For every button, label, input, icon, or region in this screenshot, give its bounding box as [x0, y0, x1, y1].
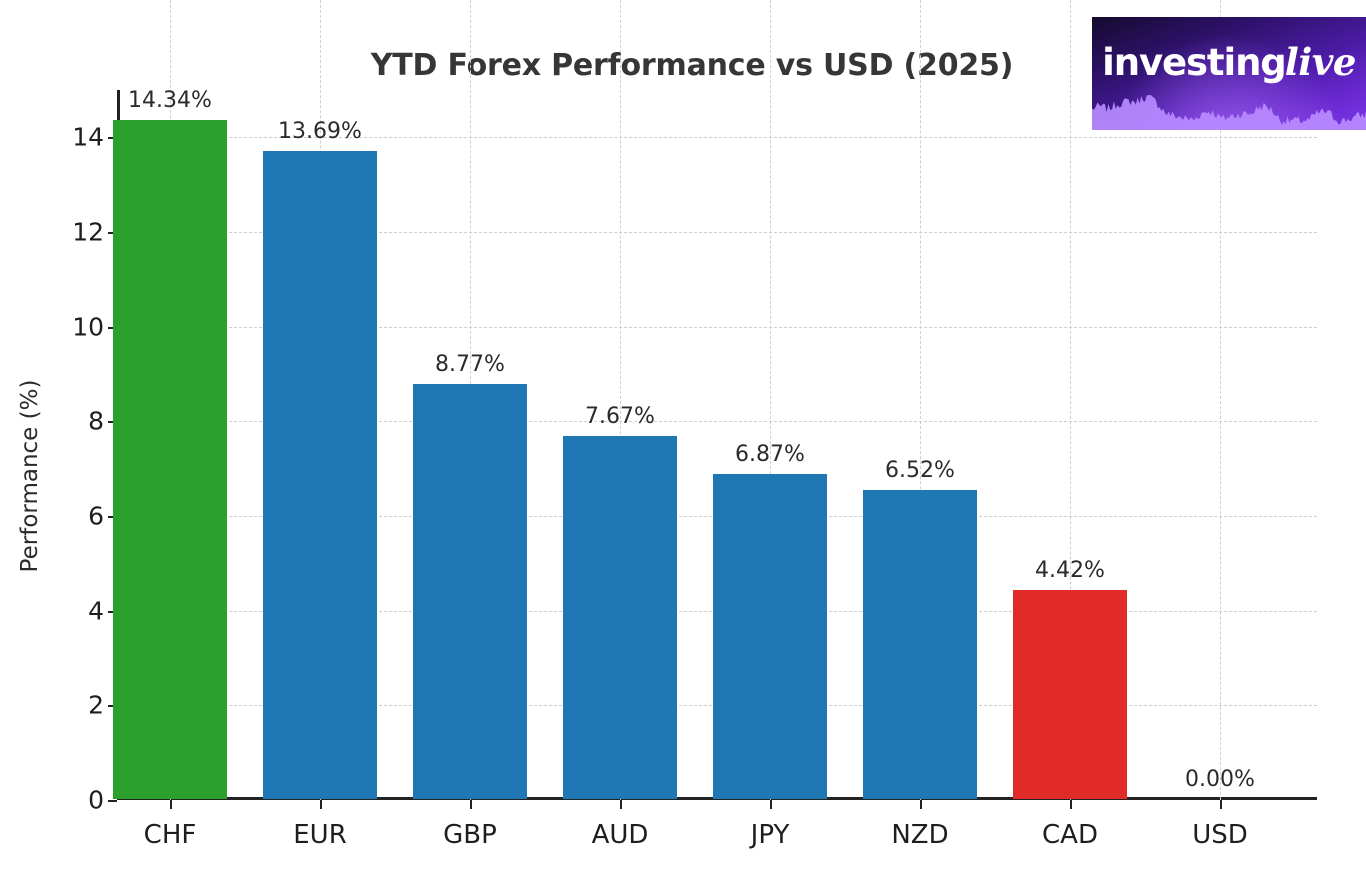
bar-eur[interactable] [263, 151, 376, 799]
bar-nzd[interactable] [863, 490, 976, 799]
x-tick-label-gbp: GBP [443, 820, 497, 850]
y-tick-label: 12 [72, 218, 104, 247]
y-tick-label: 8 [88, 407, 104, 436]
brand-logo-word-secondary: live [1285, 40, 1356, 84]
y-tick-label: 0 [88, 786, 104, 815]
bar-value-label-nzd: 6.52% [885, 458, 955, 483]
x-tick-label-nzd: NZD [891, 820, 948, 850]
bar-gbp[interactable] [413, 384, 526, 799]
plot-area: 02468101214 14.34%13.69%8.77%7.67%6.87%6… [117, 90, 1317, 800]
x-tick-mark [470, 800, 472, 809]
x-tick-label-chf: CHF [144, 820, 197, 850]
x-tick-label-usd: USD [1192, 820, 1248, 850]
bar-jpy[interactable] [713, 474, 826, 799]
x-tick-label-aud: AUD [592, 820, 649, 850]
y-tick-label: 2 [88, 691, 104, 720]
y-tick-label: 4 [88, 596, 104, 625]
x-tick-mark [320, 800, 322, 809]
bar-chf[interactable] [113, 120, 226, 799]
bar-value-label-jpy: 6.87% [735, 442, 805, 467]
bar-value-label-gbp: 8.77% [435, 352, 505, 377]
y-tick-label: 10 [72, 312, 104, 341]
x-tick-mark [770, 800, 772, 809]
bar-value-label-cad: 4.42% [1035, 558, 1105, 583]
y-tick-label: 14 [72, 123, 104, 152]
y-axis-label-text: Performance (%) [17, 380, 43, 573]
x-tick-mark [920, 800, 922, 809]
x-tick-label-jpy: JPY [751, 820, 790, 850]
bar-value-label-aud: 7.67% [585, 404, 655, 429]
brand-logo: investinglive [1092, 17, 1366, 130]
x-tick-mark [1070, 800, 1072, 809]
x-tick-label-cad: CAD [1042, 820, 1098, 850]
bar-aud[interactable] [563, 436, 676, 799]
x-tick-mark [170, 800, 172, 809]
bar-cad[interactable] [1013, 590, 1126, 799]
brand-logo-text: investinglive [1092, 44, 1366, 81]
chart-figure: YTD Forex Performance vs USD (2025) Perf… [0, 0, 1366, 896]
x-tick-mark [620, 800, 622, 809]
brand-logo-word-primary: investing [1102, 41, 1286, 84]
bar-value-label-eur: 13.69% [278, 119, 362, 144]
bar-value-label-usd: 0.00% [1185, 767, 1255, 792]
y-tick-label: 6 [88, 502, 104, 531]
sparkline-icon [1092, 88, 1366, 130]
bar-value-label-chf: 14.34% [128, 88, 212, 113]
y-tick-mark [108, 800, 117, 802]
x-tick-mark [1220, 800, 1222, 809]
x-tick-label-eur: EUR [293, 820, 347, 850]
